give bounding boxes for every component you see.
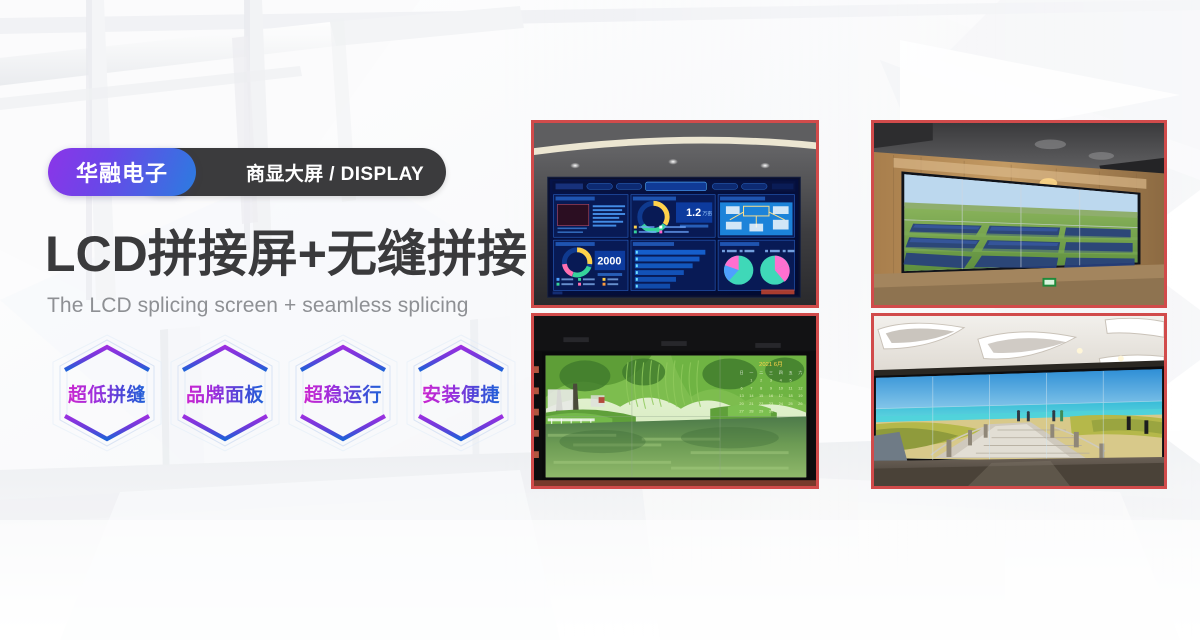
brand-badge: 商显大屏 / DISPLAY 华融电子 [48, 148, 196, 196]
feature-badge-label: 安装便捷 [422, 380, 500, 407]
page-subtitle: The LCD splicing screen + seamless splic… [47, 294, 469, 318]
svg-text:9: 9 [770, 385, 772, 390]
svg-text:7: 7 [750, 385, 752, 390]
feature-badge-label: 超稳运行 [304, 380, 382, 407]
svg-text:23: 23 [769, 401, 773, 406]
svg-text:27: 27 [739, 409, 743, 414]
svg-text:30: 30 [769, 409, 773, 414]
solar-farm-video-wall-image [874, 123, 1164, 305]
product-photo-control-room-dashboard[interactable]: 1.2 万亩 [531, 120, 819, 308]
svg-text:19: 19 [798, 393, 802, 398]
svg-text:2000: 2000 [597, 255, 621, 267]
svg-text:13: 13 [739, 393, 743, 398]
svg-text:21: 21 [749, 401, 753, 406]
feature-badge-label: 品牌面板 [186, 380, 264, 407]
svg-text:万亩: 万亩 [702, 210, 712, 217]
product-banner: 商显大屏 / DISPLAY 华融电子 LCD拼接屏+无缝拼接 The LCD … [0, 0, 1200, 640]
svg-text:17: 17 [779, 393, 783, 398]
svg-text:2: 2 [760, 378, 762, 383]
feature-badge-0: 超低拼缝 [48, 334, 166, 452]
svg-text:20: 20 [739, 401, 743, 406]
beach-boardwalk-video-wall-image [874, 316, 1164, 486]
svg-text:1: 1 [750, 378, 752, 383]
feature-badge-2: 超稳运行 [284, 334, 402, 452]
feature-badge-1: 品牌面板 [166, 334, 284, 452]
svg-text:1.2: 1.2 [686, 207, 701, 219]
svg-text:三: 三 [769, 370, 773, 375]
svg-text:29: 29 [759, 409, 763, 414]
svg-text:六: 六 [798, 370, 802, 375]
svg-text:3: 3 [770, 378, 772, 383]
company-badge-label: 华融电子 [48, 148, 196, 196]
svg-text:22: 22 [759, 401, 763, 406]
svg-text:一: 一 [749, 370, 753, 375]
svg-text:5: 5 [789, 378, 791, 383]
svg-text:11: 11 [789, 385, 793, 390]
feature-badge-label: 超低拼缝 [68, 380, 146, 407]
svg-text:2021 6月: 2021 6月 [759, 361, 783, 368]
svg-text:6: 6 [740, 385, 742, 390]
lake-willow-video-wall-image: 2021 6月 日一二 三四五六 12345 6789101112 131415… [534, 316, 816, 486]
svg-text:10: 10 [779, 385, 783, 390]
product-photo-solar-farm-corridor[interactable] [871, 120, 1167, 308]
svg-text:日: 日 [740, 370, 744, 375]
svg-text:15: 15 [759, 393, 763, 398]
svg-text:18: 18 [788, 393, 792, 398]
svg-text:16: 16 [769, 393, 773, 398]
feature-badge-list: 超低拼缝 品牌面板 [48, 334, 522, 452]
page-title: LCD拼接屏+无缝拼接 [45, 226, 527, 282]
feature-badge-3: 安装便捷 [402, 334, 520, 452]
product-photo-lake-willow-scene[interactable]: 2021 6月 日一二 三四五六 12345 6789101112 131415… [531, 313, 819, 489]
svg-text:四: 四 [779, 370, 783, 375]
control-room-dashboard-image: 1.2 万亩 [534, 123, 816, 305]
svg-text:二: 二 [759, 370, 763, 375]
svg-text:12: 12 [798, 385, 802, 390]
svg-text:28: 28 [749, 409, 753, 414]
svg-text:26: 26 [798, 401, 802, 406]
product-photo-beach-boardwalk-lobby[interactable] [871, 313, 1167, 489]
svg-text:8: 8 [760, 385, 762, 390]
svg-text:五: 五 [789, 370, 793, 375]
banner-text-column: 商显大屏 / DISPLAY 华融电子 LCD拼接屏+无缝拼接 The LCD … [0, 0, 530, 640]
svg-text:25: 25 [788, 401, 792, 406]
